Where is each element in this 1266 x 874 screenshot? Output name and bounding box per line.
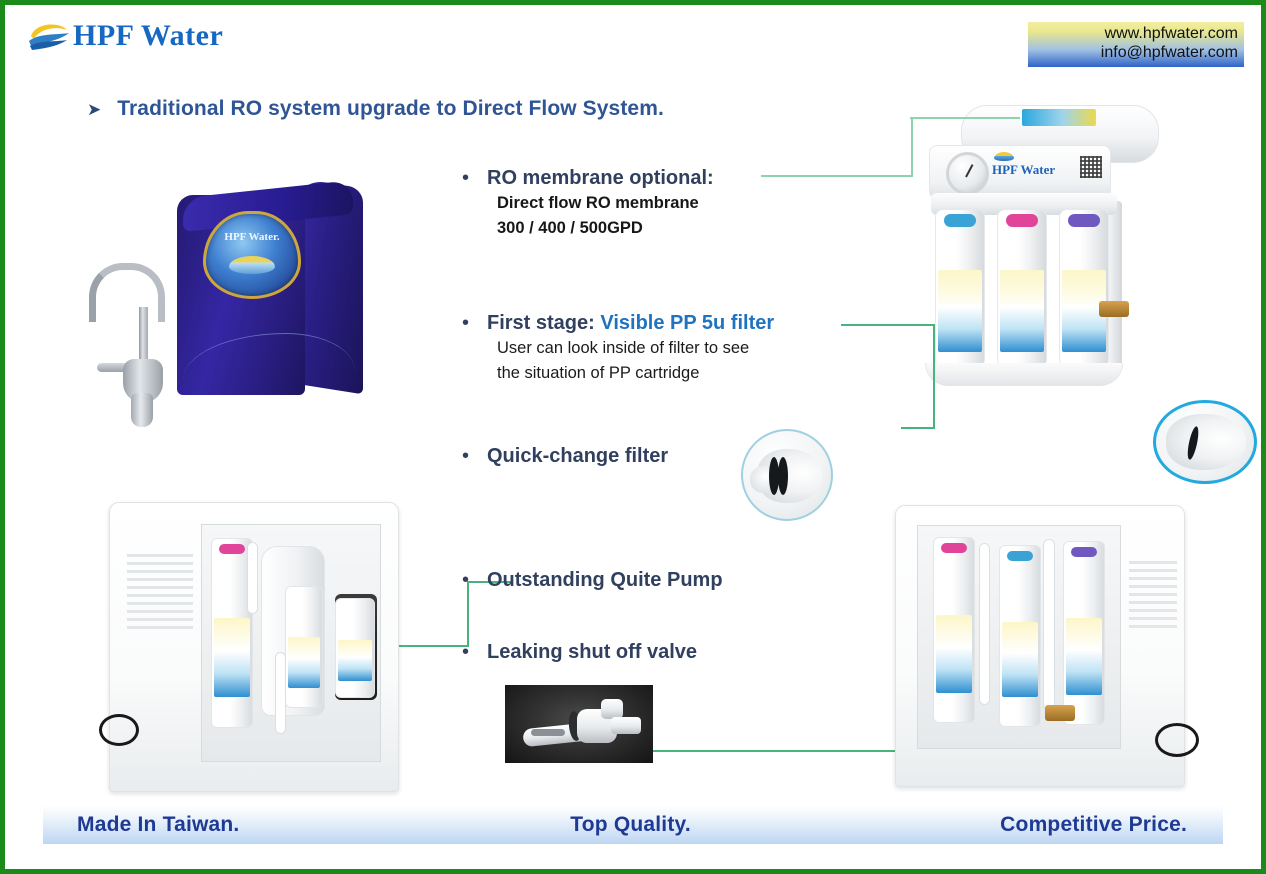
bullet-quick-change-title: Quick-change filter [487,443,668,469]
connector-2-h2 [901,427,935,429]
bullet-first-stage-line-1: User can look inside of filter to see [497,336,774,361]
bullet-first-stage-prefix: First stage: [487,312,600,334]
ro-head-panel: HPF Water [929,145,1111,199]
cabinet-right-filter-3-label [1066,618,1102,694]
ro-brass-fitting [1099,301,1129,317]
contact-website[interactable]: www.hpfwater.com [1034,25,1238,44]
bullet-marker-icon: • [453,165,487,191]
unit-badge: HPF Water. [203,211,301,299]
blue-ro-unit-photo: HPF Water. [177,183,363,405]
faucet-photo [83,263,175,395]
cabinet-left-tube-2 [275,652,286,734]
bullet-marker-icon: • [453,310,487,336]
bullet-ro-membrane-line-1: Direct flow RO membrane [497,191,714,216]
open-cabinet-right-photo [895,505,1185,787]
cabinet-right-filter-1-label [936,615,972,692]
bullet-quick-change: • Quick-change filter [453,443,668,469]
valve-port-top [601,699,623,719]
headline-text: Traditional RO system upgrade to Direct … [117,97,664,121]
bullet-quiet-pump: • Outstanding Quite Pump [453,567,723,593]
ro-base-stand [925,363,1123,386]
footer-competitive-price: Competitive Price. [1000,813,1187,837]
cabinet-right-tube-1 [979,543,990,705]
faucet-base [131,393,153,427]
unit-badge-text: HPF Water. [206,231,298,243]
ro-bracket-post [1109,201,1122,371]
bullet-first-stage: • First stage: Visible PP 5u filter User… [453,310,774,386]
bullet-marker-icon: • [453,443,487,469]
ro-head-sun-icon [994,152,1014,161]
cabinet-right-power-cord [1155,723,1199,757]
ro-filter-3-cap [1068,214,1100,227]
cabinet-right-filter-3-cap [1071,547,1097,557]
ro-filter-2-label [1000,270,1044,352]
ro-housing-stripe [1022,109,1096,126]
cabinet-left-tube-1 [247,542,258,614]
cabinet-left-filter-1-label [214,618,250,697]
ro-head-brand: HPF Water [992,162,1055,178]
cabinet-right-brass-fitting [1045,705,1075,721]
brand-logo: HPF Water [27,19,223,53]
cabinet-left-filter-1-cap [219,544,245,554]
sun-wave-icon [27,19,71,53]
bullet-first-stage-title: First stage: Visible PP 5u filter [487,310,774,336]
cabinet-right-tube-2 [1043,539,1055,711]
faucet-spout [89,263,165,322]
connector-1-v [911,118,913,177]
footer-banner: Made In Taiwan. Top Quality. Competitive… [43,806,1223,844]
cabinet-right-vent [1129,561,1177,631]
contact-email[interactable]: info@hpfwater.com [1034,44,1238,63]
cabinet-left-power-cord [99,714,139,746]
cabinet-left-filter-3 [335,598,375,698]
cabinet-left-vent [127,554,193,634]
cabinet-right-filter-1-cap [941,543,967,553]
bullet-shutoff-valve-title: Leaking shut off valve [487,639,697,665]
valve-port-right [611,717,641,734]
cabinet-left-filter-2-label [288,637,320,687]
qr-code-icon [1080,156,1102,178]
faucet-column [139,307,148,363]
white-ro-system-photo: HPF Water [923,105,1153,435]
connector-2-h1 [841,324,935,326]
arrow-marker-icon: ➤ [87,101,101,118]
quick-change-filter-photo [741,429,833,521]
slide-canvas: HPF Water www.hpfwater.com info@hpfwater… [0,0,1266,874]
cabinet-right-filter-2-cap [1007,551,1033,561]
open-cabinet-left-photo [109,502,399,792]
bullet-ro-membrane: • RO membrane optional: Direct flow RO m… [453,165,714,241]
bullet-first-stage-line-2: the situation of PP cartridge [497,361,774,386]
footer-made-in-taiwan: Made In Taiwan. [77,813,239,837]
connector-1-h1 [761,175,913,177]
brand-name: HPF Water [73,21,223,51]
ro-filter-1-cap [944,214,976,227]
ro-filter-2-cap [1006,214,1038,227]
install-filter-body [1166,414,1246,470]
bullet-marker-icon: • [453,567,487,593]
bullet-first-stage-accent: Visible PP 5u filter [600,312,774,334]
cabinet-left-filter-2 [285,586,323,708]
contact-box: www.hpfwater.com info@hpfwater.com [1028,22,1244,67]
connector-2-v [933,324,935,428]
ro-filter-1-label [938,270,982,352]
headline: ➤ Traditional RO system upgrade to Direc… [87,97,664,121]
ro-filter-3 [1059,209,1109,369]
cabinet-right-filter-2-label [1002,622,1038,698]
shutoff-valve-photo [505,685,653,763]
cabinet-right-filter-1 [933,537,975,723]
filter-installation-photo [1153,400,1257,484]
pressure-gauge-icon [946,152,989,195]
bullet-shutoff-valve: • Leaking shut off valve [453,639,697,665]
bullet-ro-membrane-title: RO membrane optional: [487,165,714,191]
cabinet-right-filter-3 [1063,541,1105,725]
connector-1-h2 [910,117,1020,119]
valve-slot [531,729,565,736]
ro-filter-2 [997,209,1047,369]
bullet-ro-membrane-line-2: 300 / 400 / 500GPD [497,216,714,241]
cabinet-right-filter-2 [999,545,1041,727]
footer-top-quality: Top Quality. [570,813,691,837]
bullet-quiet-pump-title: Outstanding Quite Pump [487,567,723,593]
bullet-marker-icon: • [453,639,487,665]
unit-badge-wave-icon [229,256,275,274]
cabinet-left-filter-3-label [338,640,372,681]
ro-filter-1 [935,209,985,369]
